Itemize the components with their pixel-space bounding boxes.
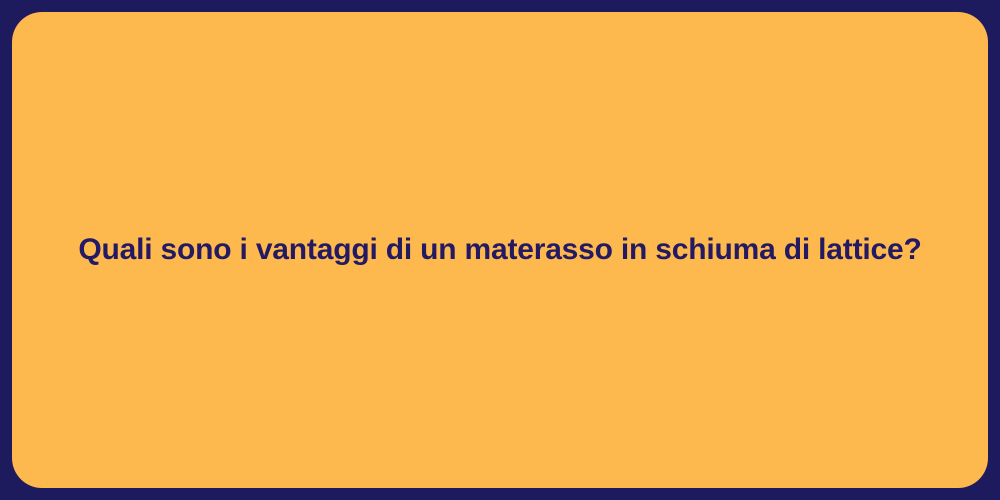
question-card: Quali sono i vantaggi di un materasso in… xyxy=(12,12,988,488)
question-container: Quali sono i vantaggi di un materasso in… xyxy=(12,231,988,269)
page-canvas: Quali sono i vantaggi di un materasso in… xyxy=(0,0,1000,500)
question-heading: Quali sono i vantaggi di un materasso in… xyxy=(78,231,921,269)
